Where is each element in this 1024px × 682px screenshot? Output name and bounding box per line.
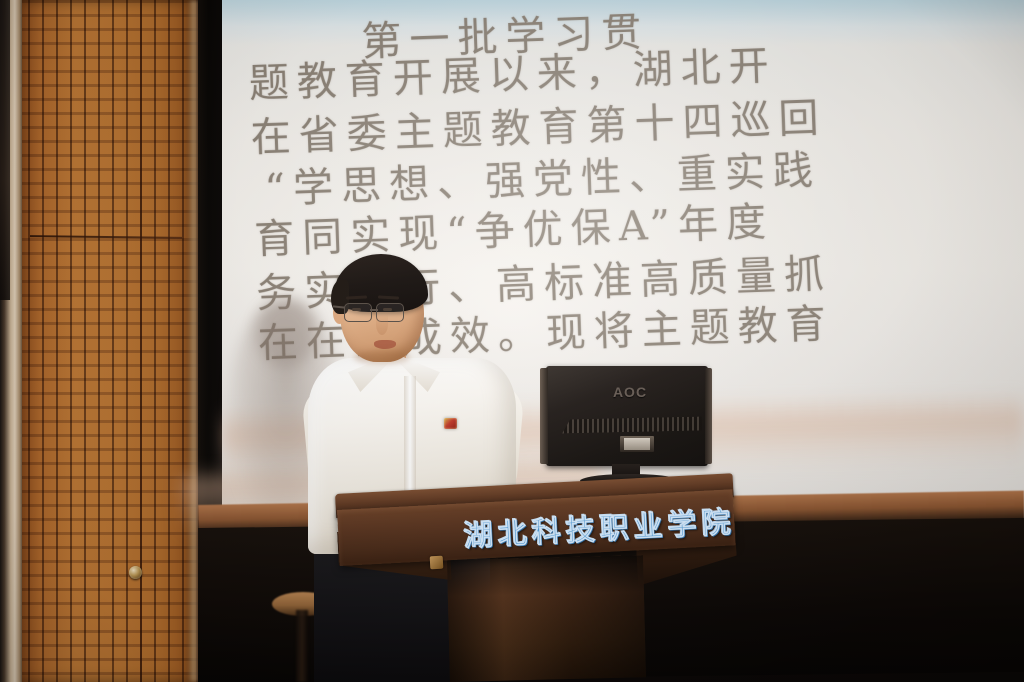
monitor-spec-label bbox=[624, 438, 650, 450]
speaker-mouth bbox=[374, 340, 396, 349]
speaker-nose bbox=[376, 313, 388, 335]
lectern-column-shading bbox=[447, 555, 646, 682]
speaker-chin-shadow bbox=[354, 350, 410, 364]
glasses-bridge bbox=[370, 309, 378, 311]
left-pillar-shadow bbox=[0, 0, 10, 300]
party-emblem-badge bbox=[444, 418, 457, 429]
monitor-right-bevel bbox=[705, 368, 712, 464]
monitor-brand-logo: AOC bbox=[604, 384, 656, 400]
lectern: 湖北科技职业学院 bbox=[335, 488, 735, 682]
door-knob[interactable] bbox=[129, 566, 142, 579]
lecture-hall-photo: 第一批学习贯 题教育开展以来，湖北开 在省委主题教育第十四巡回 “学思想、强党性… bbox=[0, 0, 1024, 682]
lectern-brass-latch bbox=[430, 556, 444, 570]
panel-seam-vertical bbox=[140, 0, 142, 682]
glasses-lens-left bbox=[344, 303, 372, 322]
panel-perforations bbox=[22, 0, 198, 682]
monitor-left-bevel bbox=[540, 368, 548, 464]
monitor-vent-grille bbox=[562, 417, 702, 434]
wood-acoustic-panel bbox=[22, 0, 198, 682]
